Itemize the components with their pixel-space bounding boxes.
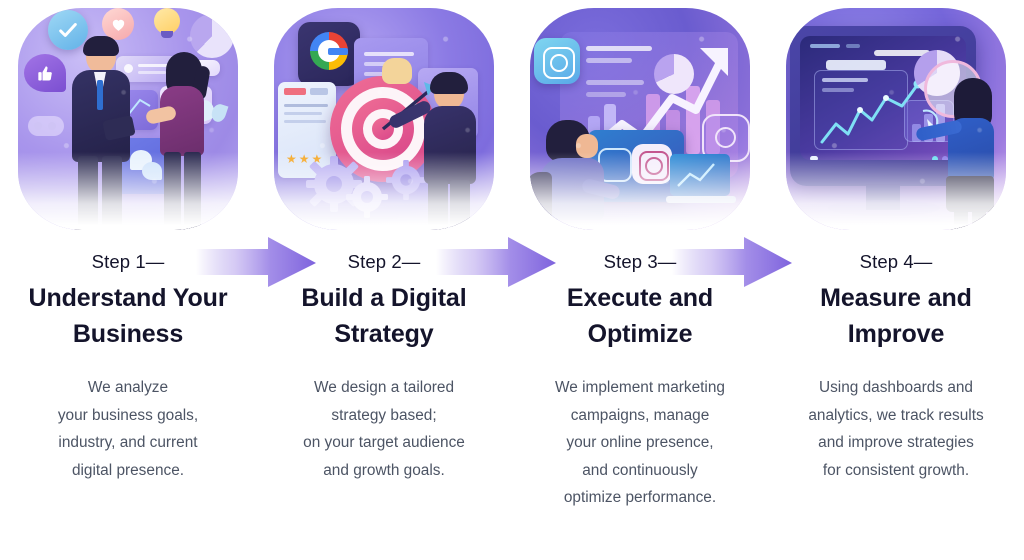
step-label-3: Step 3— xyxy=(518,252,762,272)
desc-line: We analyze xyxy=(6,374,250,401)
step-title-1: Understand Your Business xyxy=(6,281,250,352)
step-label-4: Step 4— xyxy=(774,252,1018,272)
step-title-line: Understand xyxy=(28,284,166,312)
figure-businesswoman xyxy=(148,52,220,230)
step-column-4: Step 4— Measure and Improve Using dashbo… xyxy=(768,0,1024,560)
step-title-line: Optimize xyxy=(588,320,693,348)
instagram-camera-icon xyxy=(534,38,580,84)
step-column-1: Step 1— Understand Your Business We anal… xyxy=(0,0,256,560)
desc-line: strategy based; xyxy=(262,402,506,429)
desc-line: and growth goals. xyxy=(262,457,506,484)
figure-analyst xyxy=(936,76,1002,230)
infographic-root: Step 1— Understand Your Business We anal… xyxy=(0,0,1024,560)
step-title-line: Build a Digital xyxy=(301,284,466,312)
desc-line: We design a tailored xyxy=(262,374,506,401)
step-label-1: Step 1— xyxy=(6,252,250,272)
illustration-step-1 xyxy=(10,4,246,236)
desc-line: analytics, we track results xyxy=(774,402,1018,429)
step-description-1: We analyze your business goals, industry… xyxy=(6,374,250,484)
figure-marketer xyxy=(532,120,624,230)
step-title-4: Measure and Improve xyxy=(774,281,1018,352)
desc-line: optimize performance. xyxy=(518,484,762,511)
desc-line: and improve strategies xyxy=(774,429,1018,456)
step-description-3: We implement marketing campaigns, manage… xyxy=(518,374,762,511)
desc-line: digital presence. xyxy=(6,457,250,484)
step-description-2: We design a tailored strategy based; on … xyxy=(262,374,506,484)
step-text-block-4: Step 4— Measure and Improve Using dashbo… xyxy=(768,252,1024,484)
step-label-2: Step 2— xyxy=(262,252,506,272)
step-text-block-2: Step 2— Build a Digital Strategy We desi… xyxy=(256,252,512,484)
illustration-blob-1 xyxy=(18,8,238,230)
illustration-blob-4 xyxy=(786,8,1006,230)
illustration-step-3 xyxy=(522,4,758,236)
step-title-3: Execute and Optimize xyxy=(518,281,762,352)
step-description-4: Using dashboards and analytics, we track… xyxy=(774,374,1018,484)
figure-businessman xyxy=(64,36,144,230)
step-title-line: Execute and xyxy=(567,284,713,312)
step-title-line: Measure and xyxy=(820,284,972,312)
desc-line: We implement marketing xyxy=(518,374,762,401)
step-column-2: ★★★ xyxy=(256,0,512,560)
step-title-line: Strategy xyxy=(334,320,433,348)
steps-row: Step 1— Understand Your Business We anal… xyxy=(0,0,1024,560)
figure-strategist xyxy=(416,72,486,230)
thumbs-up-bubble-icon xyxy=(24,54,66,92)
step-text-block-3: Step 3— Execute and Optimize We implemen… xyxy=(512,252,768,511)
illustration-blob-3 xyxy=(530,8,750,230)
step-title-line: Improve xyxy=(848,320,945,348)
desc-line: Using dashboards and xyxy=(774,374,1018,401)
monitor-base xyxy=(828,200,940,216)
desc-line: your online presence, xyxy=(518,429,762,456)
step-text-block-1: Step 1— Understand Your Business We anal… xyxy=(0,252,256,484)
illustration-blob-2: ★★★ xyxy=(274,8,494,230)
desc-line: on your target audience xyxy=(262,429,506,456)
desc-line: your business goals, xyxy=(6,402,250,429)
illustration-step-2: ★★★ xyxy=(266,4,502,236)
laptop-icon xyxy=(666,154,736,210)
illustration-step-4 xyxy=(778,4,1014,236)
step-title-2: Build a Digital Strategy xyxy=(262,281,506,352)
desc-line: and continuously xyxy=(518,457,762,484)
chair-icon xyxy=(530,172,552,230)
gear-icon xyxy=(346,176,388,218)
desc-line: for consistent growth. xyxy=(774,457,1018,484)
step-column-3: Step 3— Execute and Optimize We implemen… xyxy=(512,0,768,560)
lightbulb-icon xyxy=(152,8,182,48)
contact-pill-icon xyxy=(28,116,64,136)
desc-line: campaigns, manage xyxy=(518,402,762,429)
desc-line: industry, and current xyxy=(6,429,250,456)
hand-icon xyxy=(382,58,412,84)
